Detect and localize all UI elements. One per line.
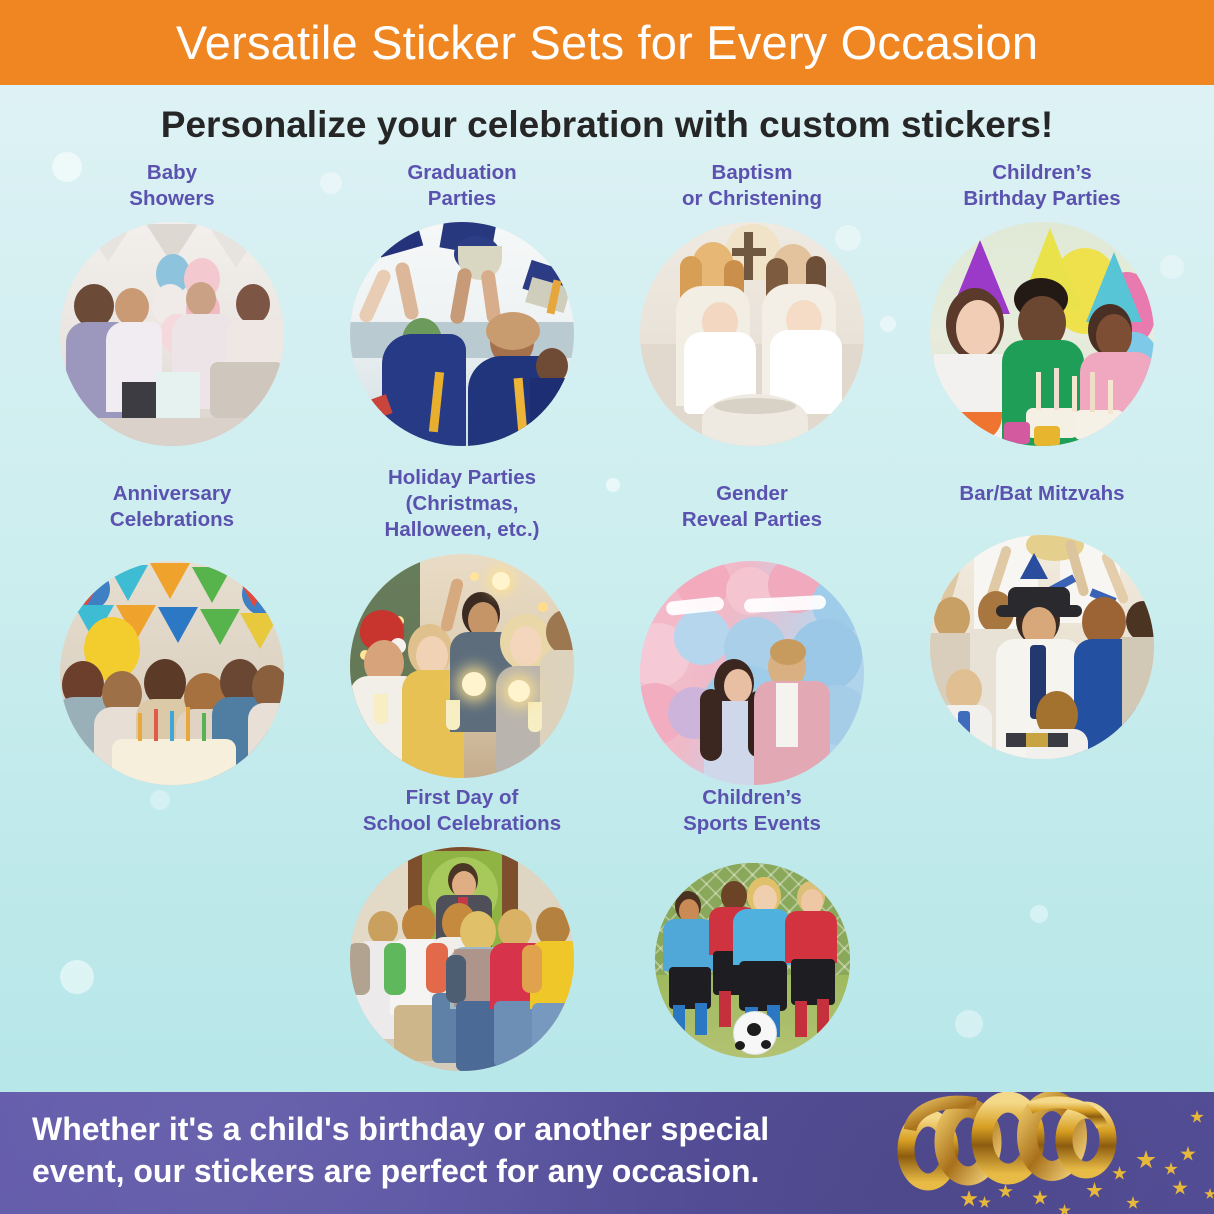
- occasion-label: Bar/Bat Mitzvahs: [959, 481, 1124, 507]
- occasion-item-first-day-school[interactable]: First Day of School Celebrations: [317, 785, 607, 1071]
- occasion-item-baptism[interactable]: Baptism or Christening: [607, 160, 897, 446]
- occasion-label: Graduation Parties: [407, 160, 516, 212]
- occasion-grid: Baby Showers: [0, 160, 1214, 1085]
- grid-row: Anniversary Celebrations: [0, 465, 1214, 785]
- gold-ribbon-icon: [880, 1092, 1214, 1214]
- infographic-page: Versatile Sticker Sets for Every Occasio…: [0, 0, 1214, 1214]
- occasion-item-bar-bat-mitzvahs[interactable]: Bar/Bat Mitzvahs: [897, 465, 1187, 759]
- photo-baby-shower: [60, 222, 284, 446]
- photo-graduation: [350, 222, 574, 446]
- occasion-label: Children’s Sports Events: [683, 785, 821, 837]
- grid-row: First Day of School Celebrations: [0, 785, 1214, 1085]
- photo-baptism: [640, 222, 864, 446]
- occasion-label: Baptism or Christening: [682, 160, 822, 212]
- occasion-label: Anniversary Celebrations: [110, 481, 234, 533]
- occasion-label: Gender Reveal Parties: [682, 481, 822, 533]
- photo-anniversary: [60, 561, 284, 785]
- occasion-label: Children’s Birthday Parties: [963, 160, 1120, 212]
- occasion-item-holiday-parties[interactable]: Holiday Parties (Christmas, Halloween, e…: [317, 465, 607, 778]
- subtitle-area: Personalize your celebration with custom…: [0, 94, 1214, 154]
- photo-gender-reveal: [640, 561, 864, 785]
- footer-text: Whether it's a child's birthday or anoth…: [32, 1108, 892, 1192]
- subtitle: Personalize your celebration with custom…: [161, 106, 1053, 143]
- photo-first-day-school: [350, 847, 574, 1071]
- photo-childrens-birthday: [930, 222, 1154, 446]
- occasion-item-gender-reveal[interactable]: Gender Reveal Parties: [607, 465, 897, 785]
- occasion-label: Holiday Parties (Christmas, Halloween, e…: [385, 465, 540, 544]
- occasion-item-graduation-parties[interactable]: Graduation Parties: [317, 160, 607, 446]
- occasion-label: Baby Showers: [129, 160, 214, 212]
- occasion-item-baby-showers[interactable]: Baby Showers: [27, 160, 317, 446]
- page-title: Versatile Sticker Sets for Every Occasio…: [176, 19, 1038, 66]
- photo-childrens-sports: [655, 863, 850, 1058]
- occasion-item-anniversary[interactable]: Anniversary Celebrations: [27, 465, 317, 785]
- header-banner: Versatile Sticker Sets for Every Occasio…: [0, 0, 1214, 85]
- occasion-label: First Day of School Celebrations: [363, 785, 561, 837]
- photo-holiday-party: [350, 554, 574, 778]
- occasion-item-childrens-sports[interactable]: Children’s Sports Events: [607, 785, 897, 1058]
- footer-banner: Whether it's a child's birthday or anoth…: [0, 1092, 1214, 1214]
- occasion-item-childrens-birthday[interactable]: Children’s Birthday Parties: [897, 160, 1187, 446]
- grid-row: Baby Showers: [0, 160, 1214, 465]
- photo-bar-bat-mitzvah: [930, 535, 1154, 759]
